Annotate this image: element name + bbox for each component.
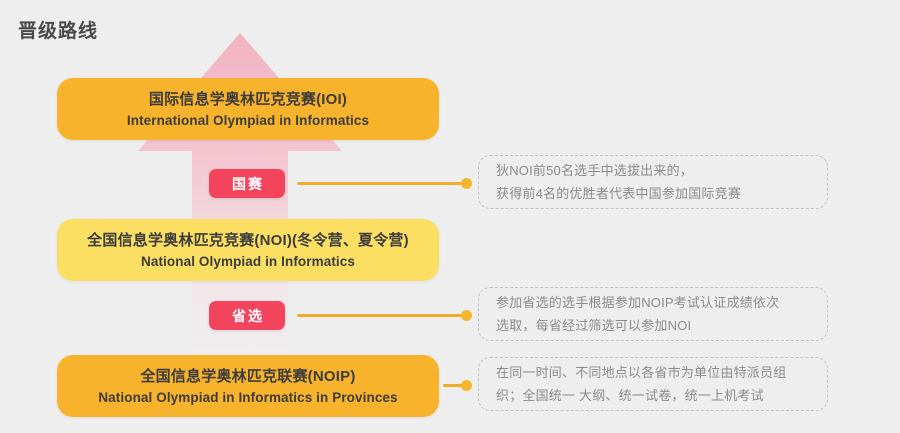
callout-shengxuan-line-1: 参加省选的选手根据参加NOIP考试认证成绩依次 — [496, 291, 779, 314]
stage-badge-shengxuan[interactable]: 省选 — [209, 301, 285, 330]
stage-box-noi-cn-label: 全国信息学奥林匹克竞赛(NOI)(冬令营、夏令营) — [87, 230, 409, 251]
callout-noip-line-2: 织；全国统一 大纲、统一试卷，统一上机考试 — [496, 384, 786, 407]
callout-guosai-note: 狄NOI前50名选手中选拔出来的， 获得前4名的优胜者代表中国参加国际竞赛 — [478, 155, 828, 209]
stage-box-noip-en-label: National Olympiad in Informatics in Prov… — [98, 388, 397, 407]
stage-box-noi-en-label: National Olympiad in Informatics — [141, 252, 355, 271]
stage-box-noip-cn-label: 全国信息学奥林匹克联赛(NOIP) — [140, 366, 355, 387]
stage-box-noip[interactable]: 全国信息学奥林匹克联赛(NOIP) National Olympiad in I… — [57, 355, 439, 417]
callout-shengxuan-line-2: 选取，每省经过筛选可以参加NOI — [496, 314, 779, 337]
connector-dot-guosai — [461, 178, 472, 189]
stage-badge-shengxuan-label: 省选 — [230, 306, 264, 326]
stage-box-noi[interactable]: 全国信息学奥林匹克竞赛(NOI)(冬令营、夏令营) National Olymp… — [57, 219, 439, 281]
stage-box-ioi-en-label: International Olympiad in Informatics — [127, 111, 369, 130]
connector-line-shengxuan — [297, 314, 465, 317]
callout-shengxuan-note: 参加省选的选手根据参加NOIP考试认证成绩依次 选取，每省经过筛选可以参加NOI — [478, 287, 828, 341]
connector-dot-noip — [461, 380, 472, 391]
callout-guosai-line-1: 狄NOI前50名选手中选拔出来的， — [496, 159, 741, 182]
stage-box-ioi-cn-label: 国际信息学奥林匹克竞赛(IOI) — [149, 89, 347, 110]
callout-noip-note: 在同一时间、不同地点以各省市为单位由特派员组 织；全国统一 大纲、统一试卷，统一… — [478, 357, 828, 411]
stage-badge-guosai-label: 国赛 — [230, 174, 264, 194]
callout-guosai-line-2: 获得前4名的优胜者代表中国参加国际竞赛 — [496, 182, 741, 205]
stage-badge-guosai[interactable]: 国赛 — [209, 169, 285, 198]
page-title: 晋级路线 — [18, 19, 98, 45]
connector-dot-shengxuan — [461, 310, 472, 321]
progression-route-diagram: 晋级路线 国际信息学奥林匹克竞赛(IOI) International Olym… — [0, 0, 900, 433]
callout-noip-line-1: 在同一时间、不同地点以各省市为单位由特派员组 — [496, 361, 786, 384]
connector-line-guosai — [297, 182, 465, 185]
stage-box-ioi[interactable]: 国际信息学奥林匹克竞赛(IOI) International Olympiad … — [57, 78, 439, 140]
